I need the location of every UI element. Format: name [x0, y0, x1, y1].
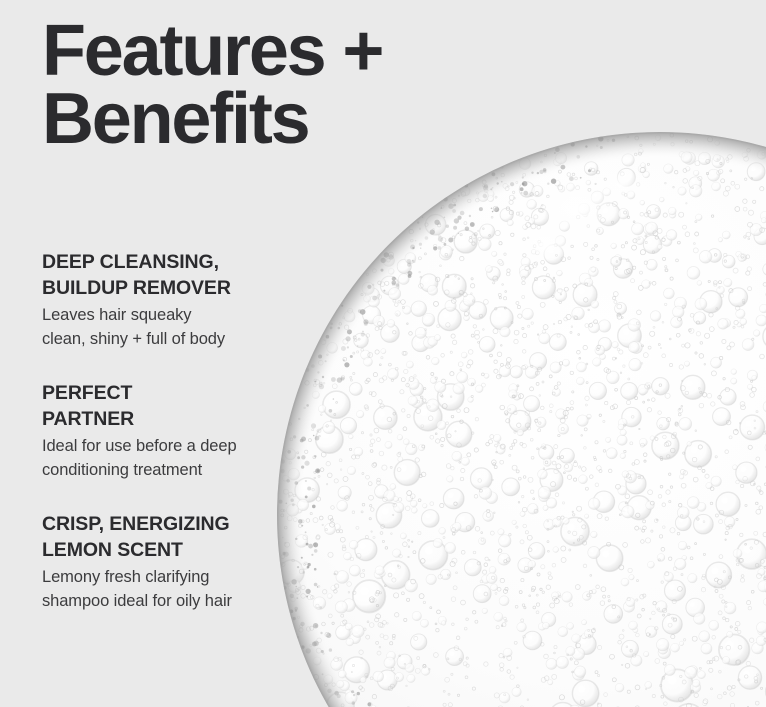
text-content: Features + Benefits DEEP CLEANSING, BUIL… — [0, 0, 766, 707]
feature-block: DEEP CLEANSING, BUILDUP REMOVER Leaves h… — [42, 250, 302, 351]
feature-heading: DEEP CLEANSING, BUILDUP REMOVER — [42, 250, 302, 301]
feature-block: CRISP, ENERGIZING LEMON SCENT Lemony fre… — [42, 512, 302, 613]
feature-description: Lemony fresh clarifying shampoo ideal fo… — [42, 566, 302, 613]
feature-block: PERFECT PARTNER Ideal for use before a d… — [42, 381, 302, 482]
features-benefits-poster: Features + Benefits DEEP CLEANSING, BUIL… — [0, 0, 766, 707]
feature-description: Ideal for use before a deep conditioning… — [42, 435, 302, 482]
features-list: DEEP CLEANSING, BUILDUP REMOVER Leaves h… — [42, 250, 302, 613]
page-title: Features + Benefits — [42, 17, 462, 153]
feature-heading: PERFECT PARTNER — [42, 381, 302, 432]
feature-heading: CRISP, ENERGIZING LEMON SCENT — [42, 512, 302, 563]
feature-description: Leaves hair squeaky clean, shiny + full … — [42, 304, 302, 351]
